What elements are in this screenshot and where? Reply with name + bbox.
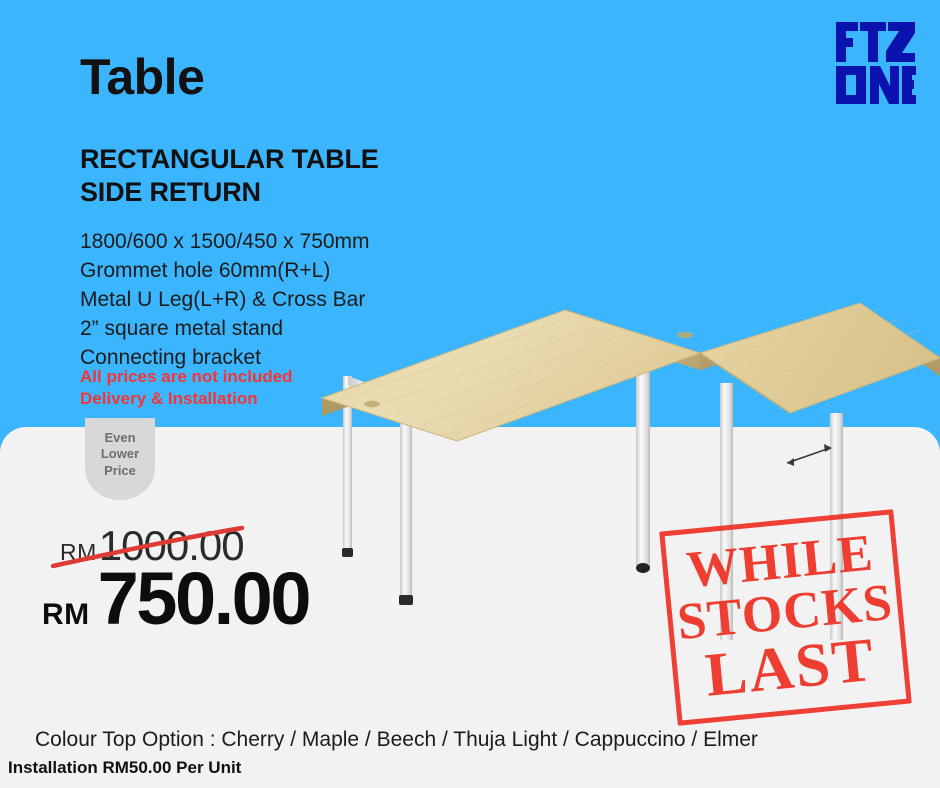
desk-leg-left-front xyxy=(399,398,413,605)
subtitle-line-2: SIDE RETURN xyxy=(80,176,379,209)
brand-logo xyxy=(834,20,918,106)
connecting-bracket-marker xyxy=(787,444,832,466)
disclaimer-line-2: Delivery & Installation xyxy=(80,388,293,410)
discounted-price: RM 750.00 xyxy=(42,562,309,636)
stamp-text: WHILE STOCKS LAST xyxy=(659,509,912,726)
badge-line-2: Lower xyxy=(101,446,139,462)
badge-line-1: Even xyxy=(104,430,135,446)
page-title: Table xyxy=(80,52,204,102)
promo-poster: Table RECTANGULAR TABLE SIDE RETURN 1800… xyxy=(0,0,940,788)
colour-top-option-line: Colour Top Option : Cherry / Maple / Bee… xyxy=(35,728,758,752)
installation-fee-line: Installation RM50.00 Per Unit xyxy=(8,758,241,778)
even-lower-price-badge: Even Lower Price xyxy=(85,418,155,500)
discounted-price-amount: 750.00 xyxy=(98,562,309,636)
spec-line: 1800/600 x 1500/450 x 750mm xyxy=(80,228,370,257)
disclaimer-line-1: All prices are not included xyxy=(80,366,293,388)
desk-leg-corner xyxy=(636,343,650,573)
badge-line-3: Price xyxy=(104,463,136,479)
price-disclaimer: All prices are not included Delivery & I… xyxy=(80,366,293,410)
product-subtitle: RECTANGULAR TABLE SIDE RETURN xyxy=(80,143,379,209)
while-stocks-last-stamp: WHILE STOCKS LAST xyxy=(659,509,912,726)
subtitle-line-1: RECTANGULAR TABLE xyxy=(80,143,379,176)
stamp-line-3: LAST xyxy=(703,630,878,706)
discounted-price-currency: RM xyxy=(42,598,90,632)
grommet-hole-right xyxy=(677,332,693,338)
desktop-return-surface xyxy=(700,303,940,413)
grommet-hole-left xyxy=(364,401,380,407)
